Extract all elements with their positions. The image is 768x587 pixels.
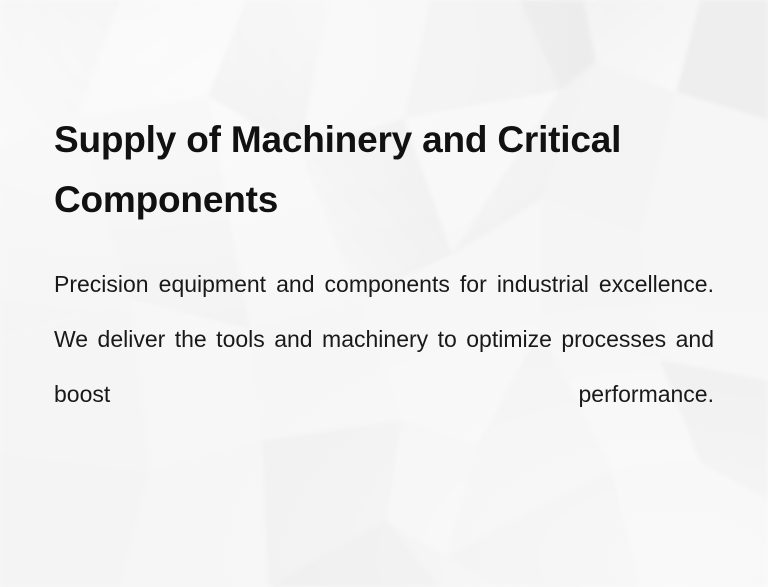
hero-content: Supply of Machinery and Critical Compone… (54, 0, 714, 587)
hero-card: Supply of Machinery and Critical Compone… (0, 0, 768, 587)
hero-description: Precision equipment and components for i… (54, 257, 714, 477)
page-title: Supply of Machinery and Critical Compone… (54, 110, 654, 230)
